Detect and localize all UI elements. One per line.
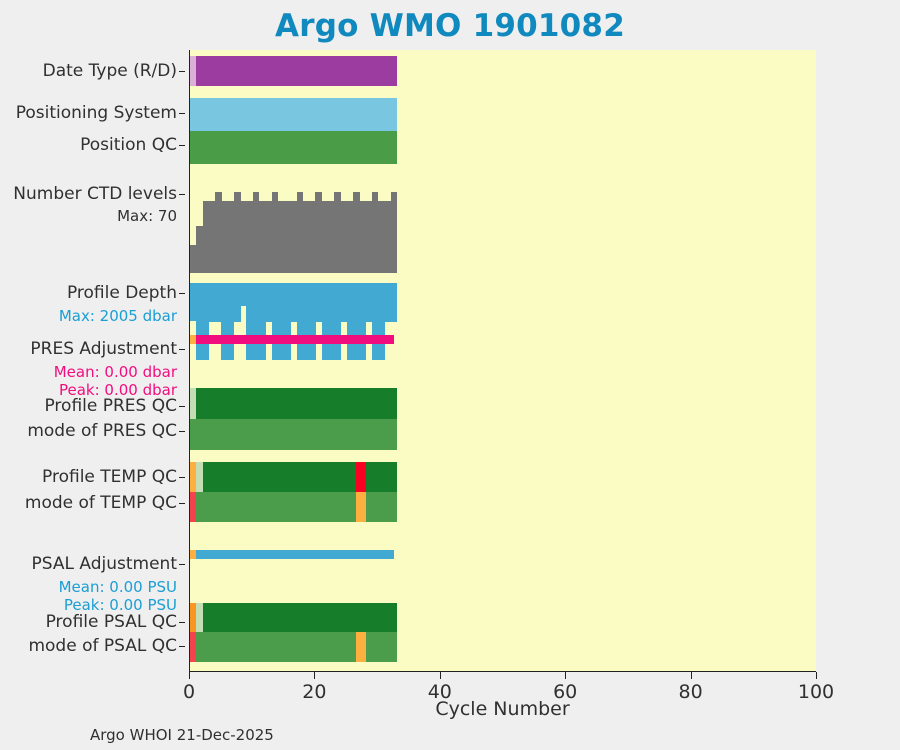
series-bars-number-ctd-levels <box>190 190 817 273</box>
y-axis-tick <box>179 194 185 195</box>
bar-column <box>391 192 398 273</box>
y-label-profile-psal-qc: Profile PSAL QC <box>46 613 185 632</box>
y-sublabel-psal-adjustment: Mean: 0.00 PSU <box>59 578 185 597</box>
series-band-profile-pres-qc <box>190 388 817 419</box>
y-axis-labels: Date Type (R/D)Positioning SystemPositio… <box>0 50 185 672</box>
y-label-psal-adjustment: PSAL Adjustment <box>32 555 185 574</box>
y-sublabel-number-ctd-levels: Max: 70 <box>117 207 185 226</box>
y-label-number-ctd-levels: Number CTD levels <box>13 185 185 204</box>
band-segment <box>356 492 365 522</box>
plot-series-container <box>190 50 816 671</box>
y-axis-tick <box>179 406 185 407</box>
band-segment <box>190 131 397 164</box>
y-axis-tick <box>179 477 185 478</box>
band-segment <box>356 632 365 662</box>
band-segment <box>366 492 397 522</box>
series-band-mode-of-temp-qc <box>190 492 817 522</box>
band-segment <box>203 462 357 492</box>
x-axis-tick <box>565 672 566 679</box>
y-axis-tick <box>179 145 185 146</box>
y-label-mode-of-temp-qc: mode of TEMP QC <box>25 494 185 513</box>
y-label-position-qc: Position QC <box>80 136 185 155</box>
line-segment <box>196 550 394 559</box>
y-label-mode-of-pres-qc: mode of PRES QC <box>27 422 185 441</box>
x-axis-tick <box>314 672 315 679</box>
series-band-profile-psal-qc <box>190 603 817 632</box>
series-line-pres-adjustment <box>190 335 817 344</box>
y-sublabel-pres-adjustment: Mean: 0.00 dbar <box>54 363 185 382</box>
y-axis-tick <box>179 646 185 647</box>
band-segment <box>366 462 397 492</box>
y-label-profile-pres-qc: Profile PRES QC <box>44 397 185 416</box>
page-title: Argo WMO 1901082 <box>0 8 900 44</box>
y-axis-tick <box>179 71 185 72</box>
line-segment <box>196 335 394 344</box>
series-band-date-type-r-d- <box>190 56 817 86</box>
y-label-profile-temp-qc: Profile TEMP QC <box>42 468 185 487</box>
series-band-mode-of-psal-qc <box>190 632 817 662</box>
y-label-profile-depth: Profile Depth <box>67 284 185 303</box>
plot-area <box>189 50 816 672</box>
y-label-date-type: Date Type (R/D) <box>43 62 185 81</box>
band-segment <box>366 632 397 662</box>
band-segment <box>196 632 356 662</box>
series-band-position-qc <box>190 131 817 164</box>
band-segment <box>190 419 397 450</box>
x-axis-tick <box>440 672 441 679</box>
y-axis-tick <box>179 349 185 350</box>
series-bars-profile-depth <box>190 283 817 360</box>
y-label-mode-of-psal-qc: mode of PSAL QC <box>28 637 185 656</box>
y-label-pres-adjustment: PRES Adjustment <box>30 340 185 359</box>
x-axis-title: Cycle Number <box>189 698 816 720</box>
y-axis-tick <box>179 564 185 565</box>
y-axis-tick <box>179 503 185 504</box>
series-band-mode-of-pres-qc <box>190 419 817 450</box>
y-label-positioning-system: Positioning System <box>16 104 185 123</box>
series-band-profile-temp-qc <box>190 462 817 492</box>
band-segment <box>196 56 397 86</box>
bar-column <box>391 283 398 322</box>
band-segment <box>196 492 356 522</box>
series-band-positioning-system <box>190 98 817 131</box>
y-axis-tick <box>179 113 185 114</box>
x-axis-tick <box>691 672 692 679</box>
series-line-psal-adjustment <box>190 550 817 559</box>
y-axis-tick <box>179 293 185 294</box>
x-axis-tick <box>189 672 190 679</box>
band-segment <box>196 388 397 419</box>
y-axis-tick <box>179 431 185 432</box>
x-axis-tick <box>816 672 817 679</box>
band-segment <box>190 98 397 131</box>
footer-caption: Argo WHOI 21-Dec-2025 <box>90 726 274 744</box>
band-segment <box>203 603 397 632</box>
y-axis-tick <box>179 622 185 623</box>
band-segment <box>356 462 365 492</box>
y-sublabel-profile-depth: Max: 2005 dbar <box>59 307 185 326</box>
